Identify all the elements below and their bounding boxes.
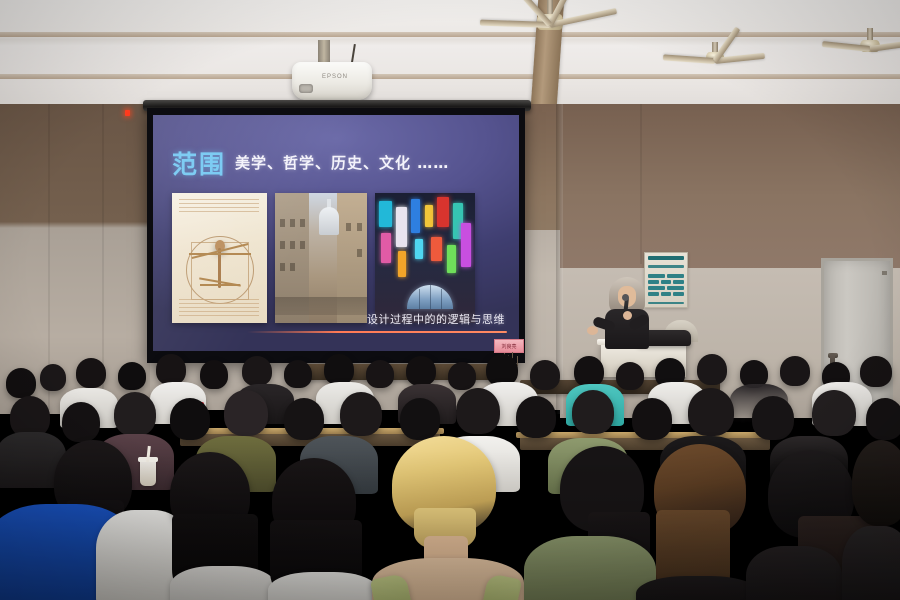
presenter-right-hand xyxy=(623,311,632,320)
student-audience xyxy=(0,340,900,600)
slide-title: 范围 xyxy=(172,145,226,181)
lecture-hall-scene: EPSON 范围 美学、哲学、历史、文化 …… xyxy=(0,0,900,600)
slide-subtitle: 美学、哲学、历史、文化 …… xyxy=(235,152,449,173)
presenter xyxy=(595,277,665,347)
projection-screen[interactable]: 范围 美学、哲学、历史、文化 …… xyxy=(147,108,525,363)
projector-brand-label: EPSON xyxy=(322,74,348,80)
slide-footer-text: 设计过程中的的逻辑与思维 xyxy=(367,311,505,327)
ceiling-fan-right xyxy=(690,42,740,92)
projector-lens-icon xyxy=(299,84,313,93)
door-hinge xyxy=(882,271,887,275)
red-indicator-led xyxy=(125,110,130,116)
wall-upper-right xyxy=(560,104,900,274)
microphone-head-icon xyxy=(622,294,629,301)
slide-image-row xyxy=(172,193,475,323)
neon-street-image xyxy=(375,193,475,323)
drink-cup xyxy=(140,460,156,486)
ceiling-fan-center xyxy=(520,0,580,56)
projector-icon: EPSON xyxy=(292,62,372,100)
vitruvian-man-image xyxy=(172,193,267,323)
ceiling-fan-far-right xyxy=(845,28,895,78)
slide-underline xyxy=(247,331,507,333)
presenter-left-hand xyxy=(587,326,598,335)
slide: 范围 美学、哲学、历史、文化 …… xyxy=(153,115,519,351)
european-street-image xyxy=(275,193,367,323)
